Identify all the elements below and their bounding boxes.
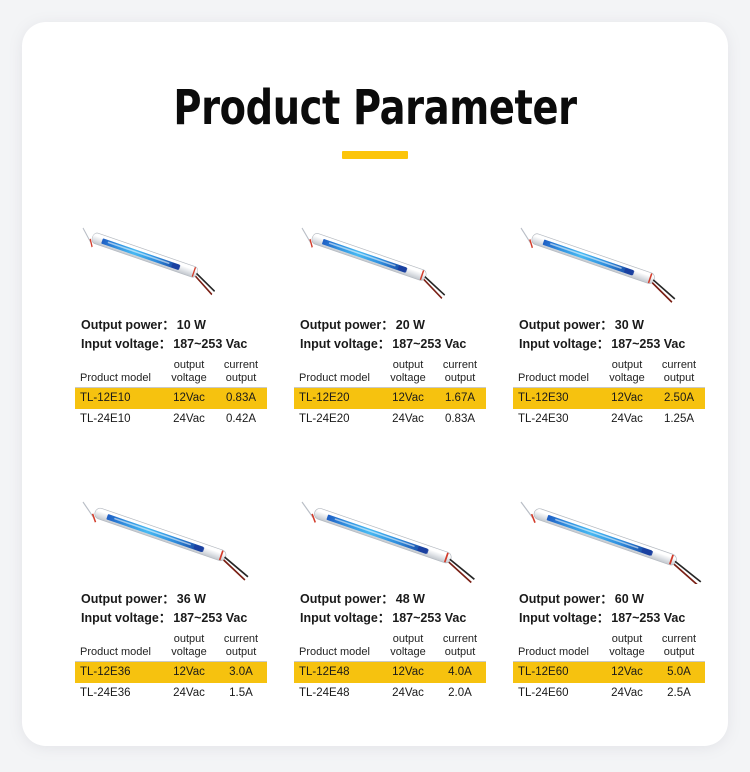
output-power-value: 60 W (615, 592, 644, 606)
column-header-output-voltage-line2: voltage (382, 646, 434, 659)
page-title-block: Product Parameter (22, 84, 728, 159)
table-header-row: Product model output voltage current out… (75, 357, 267, 388)
body-highlight (96, 234, 196, 270)
column-header-current-output-line2: output (215, 372, 267, 385)
table-header-row: Product model output voltage current out… (294, 631, 486, 662)
table-row: TL-24E60 24Vac 2.5A (513, 683, 705, 704)
cell-output-voltage: 24Vac (601, 409, 653, 430)
input-wire (79, 502, 96, 517)
cell-model: TL-24E20 (294, 409, 382, 430)
cell-model: TL-12E20 (294, 388, 382, 410)
column-header-current-output: current output (434, 631, 486, 662)
input-voltage-label: Input voltage： (81, 611, 171, 625)
output-power-value: 10 W (177, 318, 206, 332)
product-photo (294, 214, 499, 310)
spec-list: Output power：60 W Input voltage：187~253 … (513, 590, 718, 627)
output-power-value: 20 W (396, 318, 425, 332)
spec-list: Output power：10 W Input voltage：187~253 … (75, 316, 280, 353)
table-body: TL-12E20 12Vac 1.67A TL-24E20 24Vac 0.83… (294, 388, 486, 431)
output-wire-red (192, 276, 216, 294)
cell-output-voltage: 24Vac (382, 683, 434, 704)
input-voltage-value: 187~253 Vac (392, 611, 466, 625)
cell-model: TL-24E60 (513, 683, 601, 704)
parameter-table: Product model output voltage current out… (75, 357, 267, 430)
table-body: TL-12E60 12Vac 5.0A TL-24E60 24Vac 2.5A (513, 662, 705, 705)
table-header-row: Product model output voltage current out… (294, 357, 486, 388)
input-voltage-value: 187~253 Vac (173, 337, 247, 351)
output-wire-black (421, 277, 448, 295)
column-header-output-voltage: output voltage (163, 357, 215, 388)
cell-output-voltage: 24Vac (382, 409, 434, 430)
output-power-value: 30 W (615, 318, 644, 332)
column-header-current-output-line1: current (443, 359, 477, 371)
cell-model: TL-12E10 (75, 388, 163, 410)
column-header-output-voltage: output voltage (163, 631, 215, 662)
input-voltage-line: Input voltage：187~253 Vac (300, 335, 499, 354)
cell-output-voltage: 12Vac (601, 662, 653, 684)
column-header-current-output-line2: output (653, 646, 705, 659)
spec-list: Output power：48 W Input voltage：187~253 … (294, 590, 499, 627)
cell-model: TL-12E60 (513, 662, 601, 684)
column-header-output-voltage-line1: output (393, 359, 424, 371)
output-power-line: Output power：10 W (81, 316, 280, 335)
content-card: Product Parameter (22, 22, 728, 746)
table-row: TL-24E20 24Vac 0.83A (294, 409, 486, 430)
led-driver-illustration (75, 214, 280, 310)
table-body: TL-12E30 12Vac 2.50A TL-24E30 24Vac 1.25… (513, 388, 705, 431)
product-photo (513, 214, 718, 310)
table-row: TL-24E10 24Vac 0.42A (75, 409, 267, 430)
output-power-label: Output power： (519, 318, 613, 332)
column-header-model: Product model (75, 357, 163, 388)
cell-output-voltage: 24Vac (163, 409, 215, 430)
output-power-line: Output power：20 W (300, 316, 499, 335)
column-header-current-output-line2: output (434, 646, 486, 659)
table-row: TL-24E48 24Vac 2.0A (294, 683, 486, 704)
spec-list: Output power：36 W Input voltage：187~253 … (75, 590, 280, 627)
output-wire-black (671, 561, 704, 581)
input-voltage-value: 187~253 Vac (392, 337, 466, 351)
input-voltage-line: Input voltage：187~253 Vac (300, 609, 499, 628)
cell-model: TL-12E36 (75, 662, 163, 684)
product-block: Output power：30 W Input voltage：187~253 … (513, 214, 718, 430)
column-header-current-output: current output (434, 357, 486, 388)
product-grid: Output power：10 W Input voltage：187~253 … (75, 214, 719, 704)
product-block: Output power：48 W Input voltage：187~253 … (294, 488, 499, 704)
column-header-current-output-line2: output (215, 646, 267, 659)
column-header-output-voltage-line1: output (612, 359, 643, 371)
output-power-label: Output power： (81, 592, 175, 606)
led-driver-illustration (294, 214, 499, 310)
body-highlight (539, 510, 674, 558)
cell-output-voltage: 12Vac (163, 662, 215, 684)
cell-model: TL-24E48 (294, 683, 382, 704)
cell-current-output: 2.0A (434, 683, 486, 704)
output-wire-black (221, 557, 252, 577)
column-header-model: Product model (294, 357, 382, 388)
output-power-value: 48 W (396, 592, 425, 606)
product-photo (75, 488, 280, 584)
output-power-line: Output power：30 W (519, 316, 718, 335)
product-block: Output power：60 W Input voltage：187~253 … (513, 488, 718, 704)
column-header-current-output: current output (215, 631, 267, 662)
column-header-output-voltage-line1: output (612, 633, 643, 645)
table-row: TL-12E36 12Vac 3.0A (75, 662, 267, 684)
cell-current-output: 1.25A (653, 409, 705, 430)
spec-list: Output power：20 W Input voltage：187~253 … (294, 316, 499, 353)
led-driver-illustration (294, 488, 499, 584)
body-highlight (319, 510, 449, 556)
column-header-current-output-line1: current (224, 633, 258, 645)
parameter-table: Product model output voltage current out… (75, 631, 267, 704)
column-header-current-output: current output (653, 631, 705, 662)
column-header-output-voltage-line1: output (174, 359, 205, 371)
cell-output-voltage: 12Vac (382, 388, 434, 410)
table-body: TL-12E10 12Vac 0.83A TL-24E10 24Vac 0.42… (75, 388, 267, 431)
output-wire-red (445, 562, 475, 582)
table-row: TL-12E20 12Vac 1.67A (294, 388, 486, 410)
cell-output-voltage: 12Vac (601, 388, 653, 410)
column-header-current-output: current output (653, 357, 705, 388)
body-highlight (316, 235, 424, 274)
cell-model: TL-24E30 (513, 409, 601, 430)
cell-current-output: 1.67A (434, 388, 486, 410)
input-voltage-line: Input voltage：187~253 Vac (519, 609, 718, 628)
cell-current-output: 2.50A (653, 388, 705, 410)
column-header-model: Product model (294, 631, 382, 662)
output-power-line: Output power：48 W (300, 590, 499, 609)
input-voltage-value: 187~253 Vac (173, 611, 247, 625)
output-wire-red (420, 279, 446, 298)
cell-current-output: 0.83A (434, 409, 486, 430)
output-wire-red (648, 283, 675, 302)
parameter-table: Product model output voltage current out… (294, 357, 486, 430)
column-header-output-voltage-line2: voltage (163, 372, 215, 385)
cell-current-output: 0.83A (215, 388, 267, 410)
product-photo (513, 488, 718, 584)
cell-current-output: 4.0A (434, 662, 486, 684)
product-photo (294, 488, 499, 584)
input-voltage-label: Input voltage： (300, 611, 390, 625)
cell-model: TL-24E10 (75, 409, 163, 430)
column-header-output-voltage: output voltage (382, 357, 434, 388)
table-row: TL-12E48 12Vac 4.0A (294, 662, 486, 684)
label-print (550, 243, 622, 269)
column-header-current-output-line1: current (662, 359, 696, 371)
input-voltage-label: Input voltage： (519, 337, 609, 351)
cell-model: TL-12E48 (294, 662, 382, 684)
column-header-current-output-line1: current (662, 633, 696, 645)
cell-current-output: 5.0A (653, 662, 705, 684)
input-voltage-value: 187~253 Vac (611, 611, 685, 625)
column-header-model: Product model (75, 631, 163, 662)
output-wire-red (670, 564, 701, 584)
table-row: TL-12E30 12Vac 2.50A (513, 388, 705, 410)
table-header-row: Product model output voltage current out… (513, 357, 705, 388)
output-power-label: Output power： (519, 592, 613, 606)
product-block: Output power：10 W Input voltage：187~253 … (75, 214, 280, 430)
parameter-table: Product model output voltage current out… (294, 631, 486, 704)
input-wire (517, 502, 536, 518)
page-title: Product Parameter (93, 84, 658, 132)
label-print (108, 242, 170, 265)
output-power-value: 36 W (177, 592, 206, 606)
led-driver-illustration (513, 214, 718, 310)
output-wire-red (220, 560, 249, 580)
output-power-line: Output power：60 W (519, 590, 718, 609)
label-print (555, 519, 639, 549)
product-block: Output power：36 W Input voltage：187~253 … (75, 488, 280, 704)
cell-output-voltage: 12Vac (382, 662, 434, 684)
input-voltage-label: Input voltage： (81, 337, 171, 351)
column-header-output-voltage-line2: voltage (163, 646, 215, 659)
cell-model: TL-24E36 (75, 683, 163, 704)
column-header-output-voltage: output voltage (601, 631, 653, 662)
label-print (329, 242, 396, 266)
output-power-label: Output power： (300, 318, 394, 332)
product-block: Output power：20 W Input voltage：187~253 … (294, 214, 499, 430)
parameter-table: Product model output voltage current out… (513, 357, 705, 430)
product-photo (75, 214, 280, 310)
cell-current-output: 0.42A (215, 409, 267, 430)
table-body: TL-12E48 12Vac 4.0A TL-24E48 24Vac 2.0A (294, 662, 486, 705)
output-power-label: Output power： (81, 318, 175, 332)
table-row: TL-12E10 12Vac 0.83A (75, 388, 267, 410)
input-voltage-label: Input voltage： (300, 337, 390, 351)
label-print (335, 518, 415, 547)
input-voltage-line: Input voltage：187~253 Vac (519, 335, 718, 354)
column-header-output-voltage-line2: voltage (601, 372, 653, 385)
table-body: TL-12E36 12Vac 3.0A TL-24E36 24Vac 1.5A (75, 662, 267, 705)
column-header-output-voltage-line2: voltage (601, 646, 653, 659)
column-header-current-output: current output (215, 357, 267, 388)
table-row: TL-24E36 24Vac 1.5A (75, 683, 267, 704)
cell-output-voltage: 12Vac (163, 388, 215, 410)
input-voltage-line: Input voltage：187~253 Vac (81, 335, 280, 354)
output-power-line: Output power：36 W (81, 590, 280, 609)
column-header-model: Product model (513, 357, 601, 388)
body-highlight (99, 509, 223, 554)
table-row: TL-12E60 12Vac 5.0A (513, 662, 705, 684)
table-header-row: Product model output voltage current out… (513, 631, 705, 662)
led-driver-illustration (513, 488, 718, 584)
table-row: TL-24E30 24Vac 1.25A (513, 409, 705, 430)
column-header-output-voltage-line2: voltage (382, 372, 434, 385)
column-header-output-voltage: output voltage (382, 631, 434, 662)
input-voltage-label: Input voltage： (519, 611, 609, 625)
parameter-table: Product model output voltage current out… (513, 631, 705, 704)
product-parameter-page: Product Parameter (0, 0, 750, 772)
column-header-current-output-line1: current (443, 633, 477, 645)
label-print (114, 518, 191, 546)
input-wire (298, 502, 316, 517)
cell-output-voltage: 24Vac (601, 683, 653, 704)
column-header-output-voltage: output voltage (601, 357, 653, 388)
input-voltage-value: 187~253 Vac (611, 337, 685, 351)
column-header-model: Product model (513, 631, 601, 662)
title-underline-accent (342, 151, 408, 159)
column-header-current-output-line2: output (653, 372, 705, 385)
spec-list: Output power：30 W Input voltage：187~253 … (513, 316, 718, 353)
cell-current-output: 1.5A (215, 683, 267, 704)
input-voltage-line: Input voltage：187~253 Vac (81, 609, 280, 628)
column-header-output-voltage-line1: output (174, 633, 205, 645)
output-power-label: Output power： (300, 592, 394, 606)
cell-model: TL-12E30 (513, 388, 601, 410)
input-wire (517, 228, 534, 243)
output-wire-black (446, 559, 478, 579)
column-header-current-output-line2: output (434, 372, 486, 385)
table-header-row: Product model output voltage current out… (75, 631, 267, 662)
cell-current-output: 2.5A (653, 683, 705, 704)
output-wire-black (650, 280, 679, 299)
cell-output-voltage: 24Vac (163, 683, 215, 704)
column-header-output-voltage-line1: output (393, 633, 424, 645)
cell-current-output: 3.0A (215, 662, 267, 684)
led-driver-illustration (75, 488, 280, 584)
body-highlight (536, 235, 652, 277)
column-header-current-output-line1: current (224, 359, 258, 371)
